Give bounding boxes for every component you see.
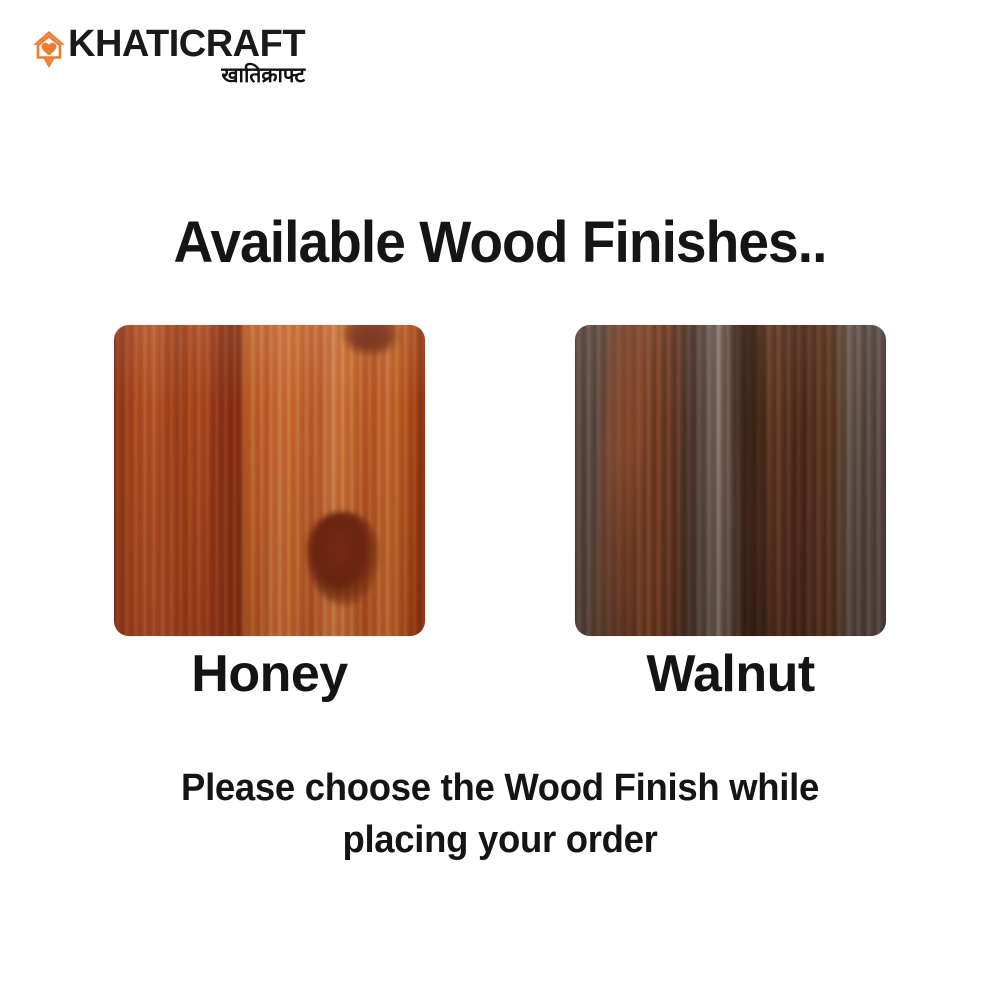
instruction-line-1: Please choose the Wood Finish while — [164, 762, 836, 814]
instruction-text: Please choose the Wood Finish while plac… — [164, 762, 836, 866]
house-heart-icon — [31, 30, 67, 70]
honey-sheen-overlay — [114, 325, 425, 636]
page-title: Available Wood Finishes.. — [25, 210, 975, 276]
brand-subtitle: खातिक्राफ्ट — [221, 65, 305, 87]
brand-name: KHATICRAFT — [68, 24, 305, 64]
instruction-line-2: placing your order — [164, 814, 836, 866]
wood-finish-poster: { "brand": { "name": "KHATICRAFT", "subt… — [0, 0, 1000, 1000]
walnut-label: Walnut — [646, 644, 814, 704]
walnut-sheen-overlay — [575, 325, 886, 636]
walnut-wood-swatch[interactable] — [575, 325, 886, 636]
brand-logo: KHATICRAFT खातिक्राफ्ट — [31, 24, 305, 87]
honey-wood-swatch[interactable] — [114, 325, 425, 636]
honey-wood-texture — [114, 325, 425, 636]
wood-finish-option-honey[interactable]: Honey — [114, 325, 425, 704]
wood-finish-option-walnut[interactable]: Walnut — [575, 325, 886, 704]
honey-label: Honey — [191, 644, 347, 704]
walnut-wood-texture — [575, 325, 886, 636]
wood-finish-list: Honey Walnut — [114, 325, 886, 704]
